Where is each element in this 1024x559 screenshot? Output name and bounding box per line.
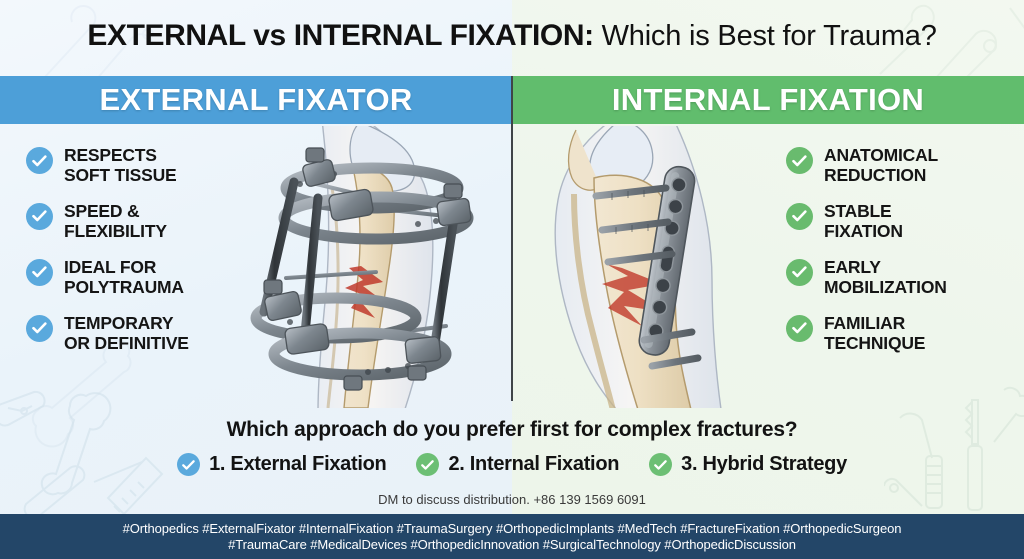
poll-question: Which approach do you prefer first for c…: [0, 418, 1024, 442]
feature-label: SPEED & FLEXIBILITY: [64, 202, 167, 242]
check-circle-icon: [26, 203, 53, 230]
feature-item: SPEED & FLEXIBILITY: [26, 202, 167, 242]
poll-options: 1. External Fixation 2. Internal Fixatio…: [0, 453, 1024, 476]
poll-option-2[interactable]: 2. Internal Fixation: [416, 453, 619, 476]
feature-label: FAMILIAR TECHNIQUE: [824, 314, 925, 354]
illustration-internal-fixation: [516, 126, 808, 408]
check-circle-icon: [786, 147, 813, 174]
poll-block: Which approach do you prefer first for c…: [0, 418, 1024, 476]
check-circle-icon: [786, 315, 813, 342]
poll-option-label: 3. Hybrid Strategy: [681, 453, 847, 476]
illustration-external-fixator: [248, 126, 516, 408]
panel-divider: [511, 76, 513, 401]
feature-label: RESPECTS SOFT TISSUE: [64, 146, 177, 186]
feature-item: RESPECTS SOFT TISSUE: [26, 146, 177, 186]
feature-item: IDEAL FOR POLYTRAUMA: [26, 258, 184, 298]
feature-item: EARLY MOBILIZATION: [786, 258, 947, 298]
hashtag-footer: #Orthopedics #ExternalFixator #InternalF…: [0, 514, 1024, 559]
header-external-fixator: EXTERNAL FIXATOR: [0, 76, 512, 124]
page-title: EXTERNAL vs INTERNAL FIXATION: Which is …: [0, 0, 1024, 72]
check-circle-icon: [26, 315, 53, 342]
feature-item: STABLE FIXATION: [786, 202, 903, 242]
page-title-strong: EXTERNAL vs INTERNAL FIXATION:: [87, 19, 593, 52]
poll-option-1[interactable]: 1. External Fixation: [177, 453, 386, 476]
check-circle-icon: [26, 259, 53, 286]
header-internal-fixation: INTERNAL FIXATION: [512, 76, 1024, 124]
feature-label: TEMPORARY OR DEFINITIVE: [64, 314, 189, 354]
page-title-light: Which is Best for Trauma?: [594, 20, 937, 52]
feature-label: IDEAL FOR POLYTRAUMA: [64, 258, 184, 298]
check-circle-icon: [26, 147, 53, 174]
check-circle-icon: [649, 453, 672, 476]
feature-item: FAMILIAR TECHNIQUE: [786, 314, 925, 354]
poll-option-3[interactable]: 3. Hybrid Strategy: [649, 453, 847, 476]
check-circle-icon: [786, 259, 813, 286]
feature-list-external: RESPECTS SOFT TISSUE SPEED & FLEXIBILITY…: [26, 146, 256, 354]
feature-label: STABLE FIXATION: [824, 202, 903, 242]
feature-item: ANATOMICAL REDUCTION: [786, 146, 938, 186]
feature-list-internal: ANATOMICAL REDUCTION STABLE FIXATION EAR…: [786, 146, 1008, 354]
check-circle-icon: [416, 453, 439, 476]
hashtag-line-1: #Orthopedics #ExternalFixator #InternalF…: [123, 521, 902, 536]
check-circle-icon: [177, 453, 200, 476]
check-circle-icon: [786, 203, 813, 230]
contact-line: DM to discuss distribution. +86 139 1569…: [0, 492, 1024, 507]
feature-label: EARLY MOBILIZATION: [824, 258, 947, 298]
hashtag-line-2: #TraumaCare #MedicalDevices #OrthopedicI…: [228, 537, 796, 552]
feature-item: TEMPORARY OR DEFINITIVE: [26, 314, 189, 354]
feature-label: ANATOMICAL REDUCTION: [824, 146, 938, 186]
poll-option-label: 2. Internal Fixation: [448, 453, 619, 476]
poll-option-label: 1. External Fixation: [209, 453, 386, 476]
infographic-root: EXTERNAL vs INTERNAL FIXATION: Which is …: [0, 0, 1024, 559]
